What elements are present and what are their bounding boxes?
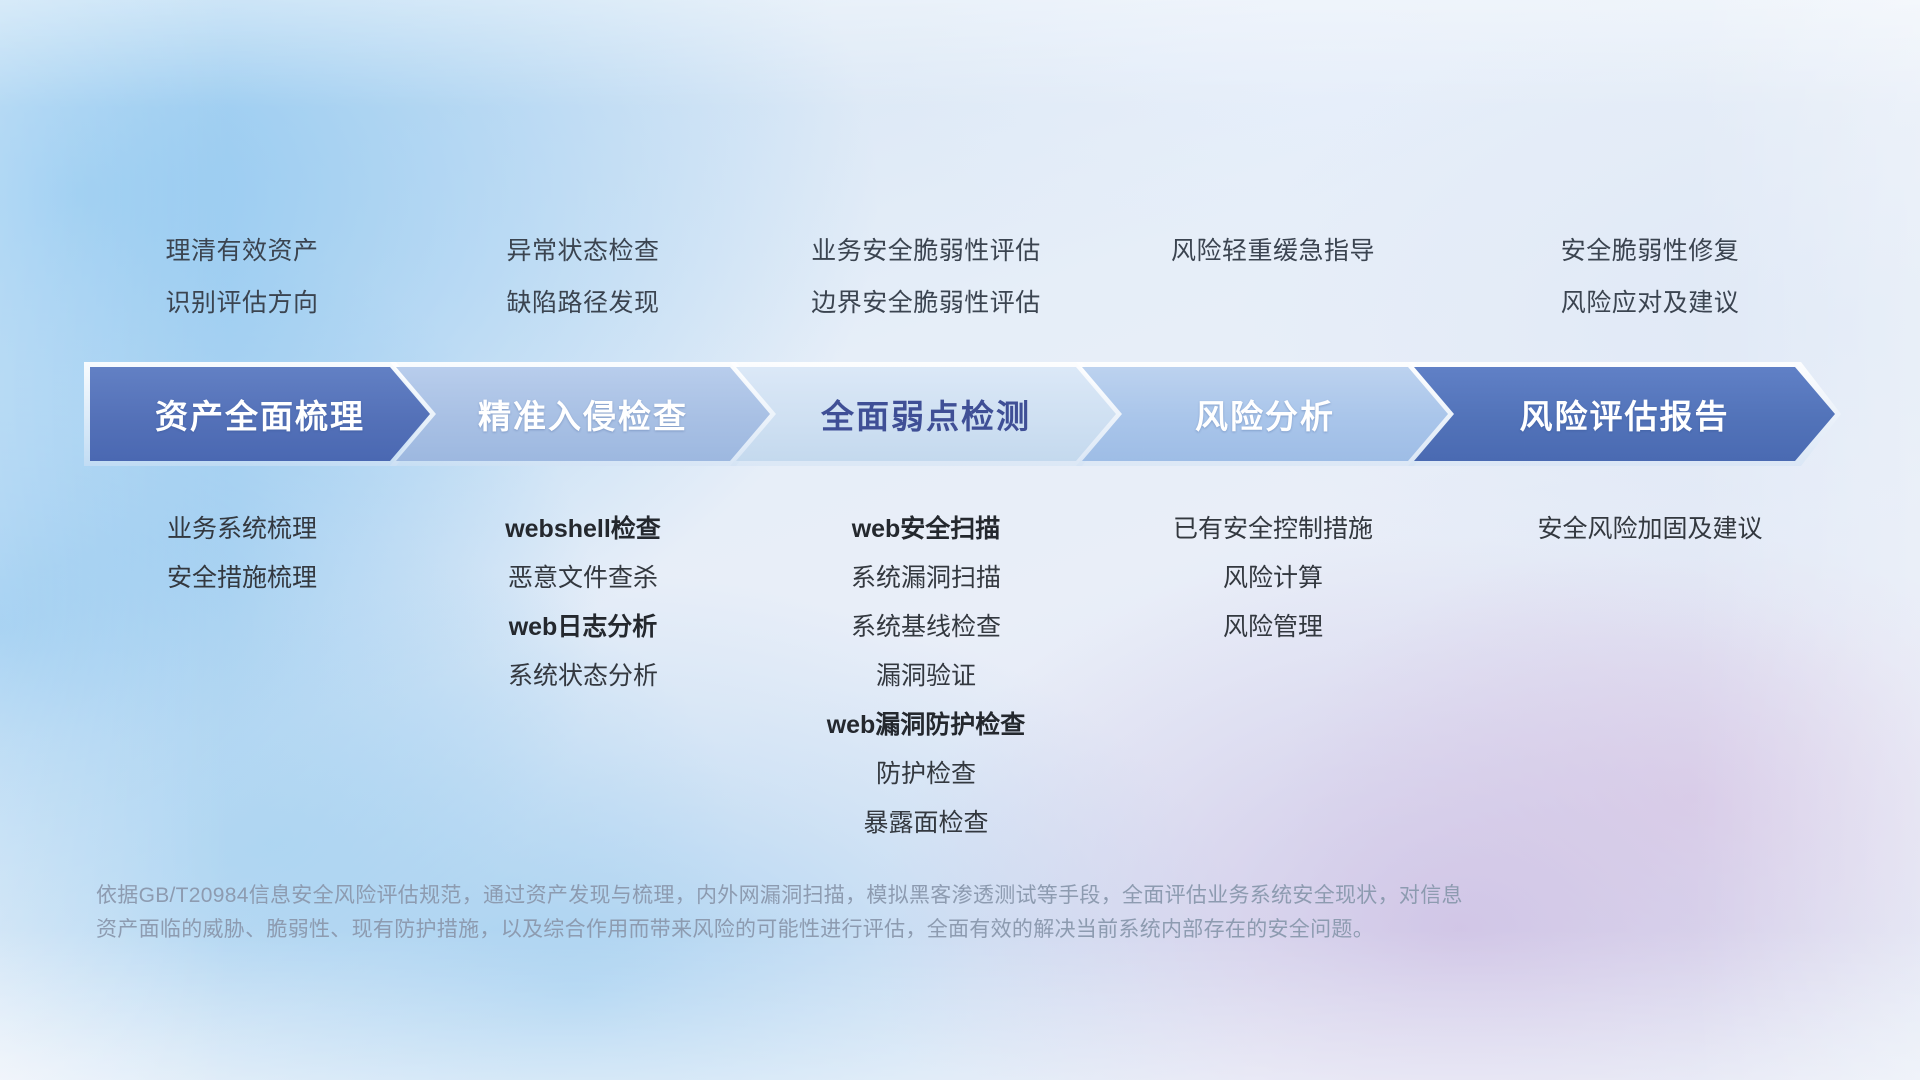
top-item: 边界安全脆弱性评估 [754,277,1098,329]
top-column-risk-analysis: 风险轻重缓急指导 [1098,225,1448,329]
chevron-stage-risk-report[interactable]: 风险评估报告 [1414,367,1835,461]
bottom-column-risk-analysis: 已有安全控制措施 风险计算 风险管理 [1098,505,1448,652]
footer-line-1: 依据GB/T20984信息安全风险评估规范，通过资产发现与梳理，内外网漏洞扫描，… [96,879,1616,913]
top-item: 安全脆弱性修复 [1448,225,1852,277]
top-column-weakness-detection: 业务安全脆弱性评估 边界安全脆弱性评估 [754,225,1098,329]
diagram-content: 理清有效资产 识别评估方向 异常状态检查 缺陷路径发现 业务安全脆弱性评估 边界… [0,0,1920,1080]
list-item: web日志分析 [412,603,754,652]
bottom-column-asset-inventory: 业务系统梳理 安全措施梳理 [72,505,412,603]
top-column-intrusion-check: 异常状态检查 缺陷路径发现 [412,225,754,329]
list-item: 风险计算 [1098,554,1448,603]
list-item: webshell检查 [412,505,754,554]
list-item: 风险管理 [1098,603,1448,652]
top-item: 识别评估方向 [72,277,412,329]
chevron-label: 风险评估报告 [1520,390,1730,438]
top-item: 异常状态检查 [412,225,754,277]
process-chevron-band: 资产全面梳理 精准入侵检查 全面弱点检测 风险分析 风险评估报告 [84,367,1841,461]
list-item: 安全措施梳理 [72,554,412,603]
chevron-stage-asset-inventory[interactable]: 资产全面梳理 [90,367,430,461]
slide-canvas: 理清有效资产 识别评估方向 异常状态检查 缺陷路径发现 业务安全脆弱性评估 边界… [0,0,1920,1080]
chevron-label: 资产全面梳理 [155,390,365,438]
top-column-asset-inventory: 理清有效资产 识别评估方向 [72,225,412,329]
top-item: 风险轻重缓急指导 [1098,225,1448,277]
bottom-label-row: 业务系统梳理 安全措施梳理 webshell检查 恶意文件查杀 web日志分析 … [72,505,1852,848]
chevron-label: 精准入侵检查 [478,390,688,438]
chevron-label: 风险分析 [1195,390,1335,438]
top-item: 理清有效资产 [72,225,412,277]
list-item: 已有安全控制措施 [1098,505,1448,554]
list-item: 安全风险加固及建议 [1448,505,1852,554]
top-item: 风险应对及建议 [1448,277,1852,329]
top-item: 缺陷路径发现 [412,277,754,329]
list-item: web安全扫描 [754,505,1098,554]
footer-description: 依据GB/T20984信息安全风险评估规范，通过资产发现与梳理，内外网漏洞扫描，… [96,879,1616,947]
list-item: 业务系统梳理 [72,505,412,554]
list-item: 防护检查 [754,750,1098,799]
list-item: 漏洞验证 [754,652,1098,701]
chevron-stage-risk-analysis[interactable]: 风险分析 [1082,367,1448,461]
list-item: 系统漏洞扫描 [754,554,1098,603]
bottom-column-risk-report: 安全风险加固及建议 [1448,505,1852,554]
list-item: web漏洞防护检查 [754,701,1098,750]
list-item: 暴露面检查 [754,799,1098,848]
bottom-column-weakness-detection: web安全扫描 系统漏洞扫描 系统基线检查 漏洞验证 web漏洞防护检查 防护检… [754,505,1098,848]
top-item: 业务安全脆弱性评估 [754,225,1098,277]
footer-line-2: 资产面临的威胁、脆弱性、现有防护措施，以及综合作用而带来风险的可能性进行评估，全… [96,913,1616,947]
list-item: 系统基线检查 [754,603,1098,652]
chevron-label: 全面弱点检测 [821,390,1031,438]
top-column-risk-report: 安全脆弱性修复 风险应对及建议 [1448,225,1852,329]
bottom-column-intrusion-check: webshell检查 恶意文件查杀 web日志分析 系统状态分析 [412,505,754,701]
top-label-row: 理清有效资产 识别评估方向 异常状态检查 缺陷路径发现 业务安全脆弱性评估 边界… [72,225,1852,329]
chevron-stage-weakness-detection[interactable]: 全面弱点检测 [736,367,1116,461]
chevron-stage-intrusion-check[interactable]: 精准入侵检查 [396,367,770,461]
list-item: 恶意文件查杀 [412,554,754,603]
list-item: 系统状态分析 [412,652,754,701]
